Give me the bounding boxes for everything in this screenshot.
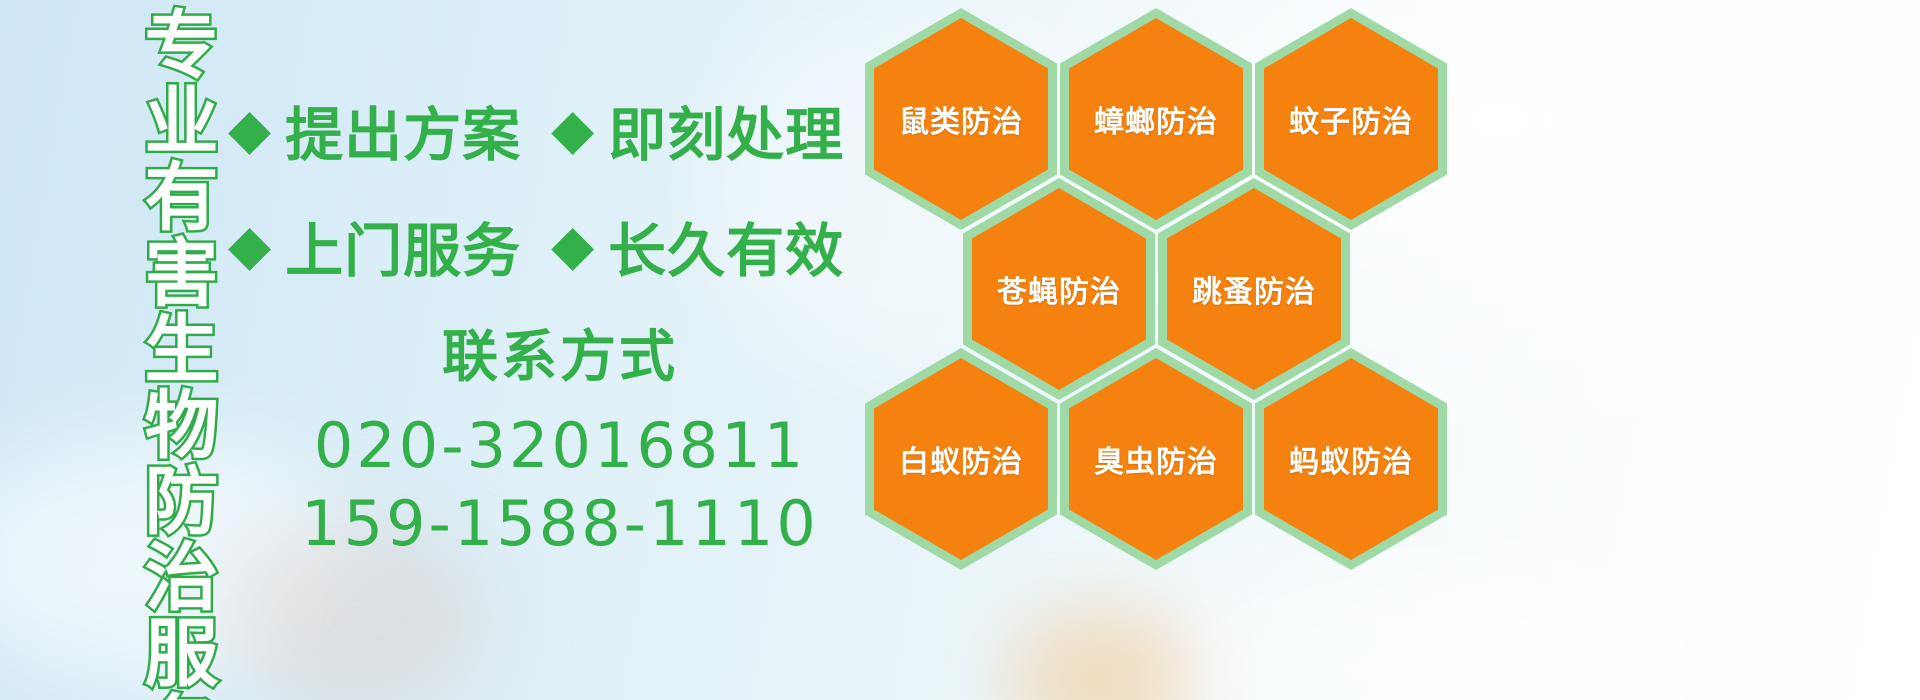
feature-label: 提出方案	[285, 88, 521, 172]
hex-cell-label: 臭虫防治	[1094, 437, 1218, 481]
vertical-slogan: 专业有害生物防治服务	[108, 6, 212, 700]
contact-phone-mobile[interactable]: 159-1588-1110	[230, 485, 890, 563]
feature-row: ◆ 上门服务 ◆ 长久有效	[228, 188, 868, 304]
hex-cell-label: 跳蚤防治	[1192, 267, 1316, 311]
hex-cell-label: 蚊子防治	[1289, 97, 1413, 141]
hex-cell-label: 苍蝇防治	[997, 267, 1121, 311]
feature-item: ◆ 即刻处理	[551, 88, 844, 172]
feature-item: ◆ 提出方案	[228, 88, 521, 172]
feature-item: ◆ 上门服务	[228, 204, 521, 288]
hex-cell-label: 蚂蚁防治	[1289, 437, 1413, 481]
background-blur-blob	[1010, 610, 1190, 700]
feature-label: 即刻处理	[608, 88, 844, 172]
diamond-bullet-icon: ◆	[551, 102, 594, 158]
diamond-bullet-icon: ◆	[228, 218, 271, 274]
feature-label: 上门服务	[285, 204, 521, 288]
contact-title: 联系方式	[230, 312, 890, 393]
hex-cell-label: 白蚁防治	[899, 437, 1023, 481]
feature-list: ◆ 提出方案 ◆ 即刻处理 ◆ 上门服务 ◆ 长久有效	[228, 72, 868, 304]
diamond-bullet-icon: ◆	[551, 218, 594, 274]
hex-cell-label: 蟑螂防治	[1094, 97, 1218, 141]
contact-block: 联系方式 020-32016811 159-1588-1110	[230, 312, 890, 563]
contact-phone-landline[interactable]: 020-32016811	[230, 407, 890, 485]
service-honeycomb: 鼠类防治蟑螂防治蚊子防治苍蝇防治跳蚤防治白蚁防治臭虫防治蚂蚁防治	[855, 0, 1495, 600]
feature-item: ◆ 长久有效	[551, 204, 844, 288]
feature-label: 长久有效	[608, 204, 844, 288]
promo-banner: 专业有害生物防治服务 ◆ 提出方案 ◆ 即刻处理 ◆ 上门服务 ◆ 长久有效	[0, 0, 1920, 700]
diamond-bullet-icon: ◆	[228, 102, 271, 158]
hex-cell-label: 鼠类防治	[899, 97, 1023, 141]
feature-row: ◆ 提出方案 ◆ 即刻处理	[228, 72, 868, 188]
